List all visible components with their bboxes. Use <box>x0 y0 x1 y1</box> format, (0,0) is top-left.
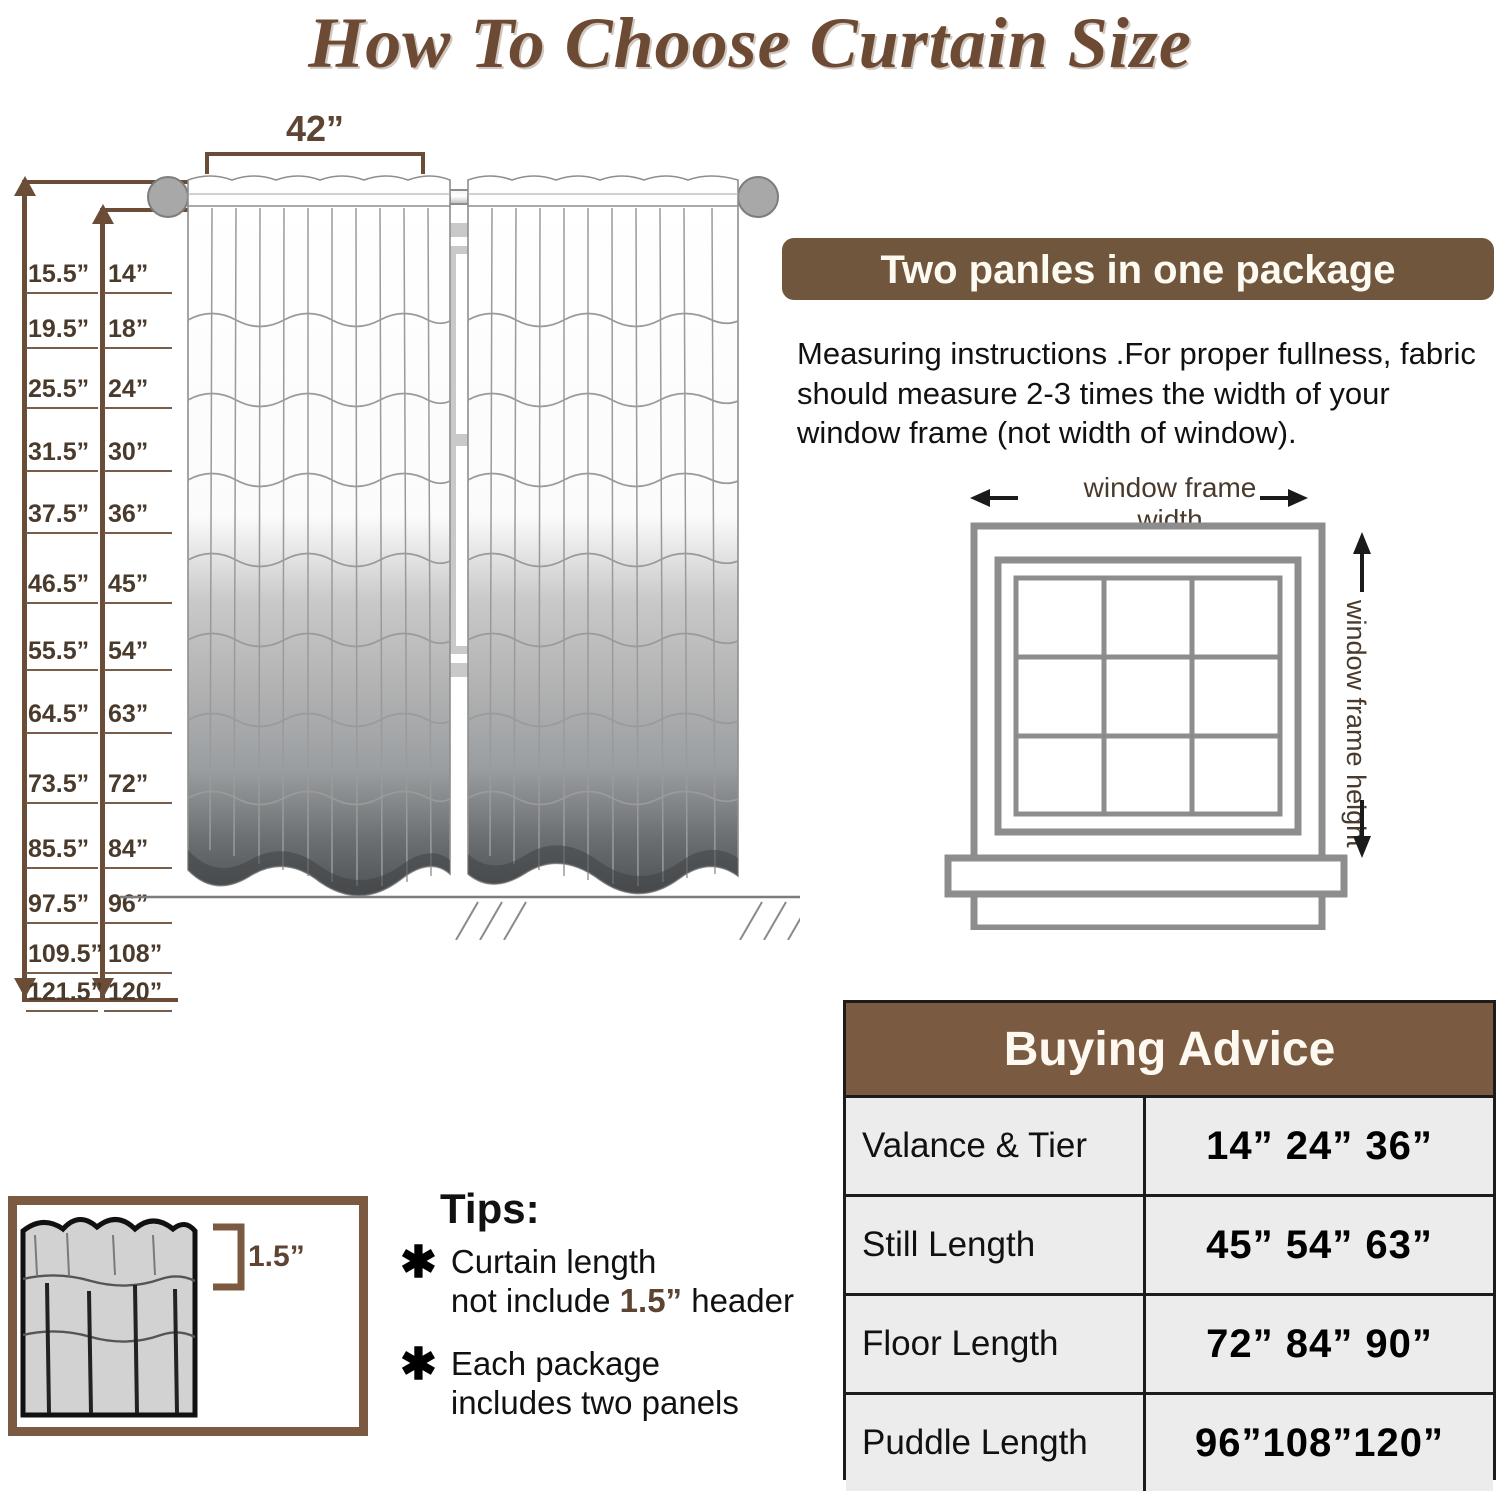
table-cell-sizes: 72” 84” 90” <box>1146 1296 1493 1392</box>
scale-tick <box>26 972 98 974</box>
two-panels-banner-label: Two panles in one package <box>782 248 1494 293</box>
scale-tick <box>26 470 98 472</box>
scale-axis-total <box>22 180 27 998</box>
scale-tick <box>26 1010 98 1012</box>
scale-arrow-up-panel <box>92 204 114 224</box>
table-cell-label: Floor Length <box>846 1296 1146 1392</box>
scale-tick <box>26 669 98 671</box>
scale-total-label: 15.5” <box>28 260 89 289</box>
table-cell-sizes: 45” 54” 63” <box>1146 1197 1493 1293</box>
tip-line-2-pre: includes two panels <box>451 1384 739 1421</box>
tip-line-2: includes two panels <box>451 1384 739 1423</box>
tip-line-1: Curtain length <box>451 1243 794 1282</box>
scale-total-label: 73.5” <box>28 770 89 799</box>
tip-text: Curtain lengthnot include 1.5” header <box>451 1243 794 1321</box>
buying-advice-table: Buying Advice Valance & Tier14” 24” 36”S… <box>843 1000 1496 1480</box>
table-row: Puddle Length96”108”120” <box>846 1392 1493 1491</box>
scale-tick <box>26 407 98 409</box>
table-cell-label: Valance & Tier <box>846 1098 1146 1194</box>
scale-tick <box>26 532 98 534</box>
tip-line-2-highlight: 1.5” <box>620 1282 682 1319</box>
scale-panel-label: 120” <box>108 978 162 1007</box>
scale-total-label: 64.5” <box>28 700 89 729</box>
tip-line-1: Each package <box>451 1345 739 1384</box>
header-detail-panel <box>8 1196 368 1436</box>
tips-title: Tips: <box>440 1185 540 1233</box>
table-cell-sizes: 14” 24” 36” <box>1146 1098 1493 1194</box>
tip-line-2-post: header <box>682 1282 794 1319</box>
buying-advice-heading: Buying Advice <box>846 1003 1493 1095</box>
scale-total-label: 121.5” <box>28 978 103 1007</box>
table-row: Still Length45” 54” 63” <box>846 1194 1493 1293</box>
scale-tick <box>26 732 98 734</box>
scale-total-label: 109.5” <box>28 940 103 969</box>
scale-total-label: 55.5” <box>28 637 89 666</box>
header-size-label: 1.5” <box>248 1240 305 1274</box>
scale-total-label: 85.5” <box>28 835 89 864</box>
scale-total-label: 19.5” <box>28 315 89 344</box>
curtain-illustration <box>120 150 800 940</box>
scale-tick <box>26 602 98 604</box>
asterisk-icon: ✱ <box>400 1345 437 1385</box>
scale-tick <box>26 347 98 349</box>
tip-item: ✱Curtain lengthnot include 1.5” header <box>400 1243 794 1321</box>
buying-advice-rows: Valance & Tier14” 24” 36”Still Length45”… <box>846 1095 1493 1491</box>
scale-tick <box>26 292 98 294</box>
tip-text: Each packageincludes two panels <box>451 1345 739 1423</box>
tip-line-2: not include 1.5” header <box>451 1282 794 1321</box>
scale-tick <box>26 867 98 869</box>
scale-total-label: 25.5” <box>28 375 89 404</box>
table-cell-label: Puddle Length <box>846 1395 1146 1491</box>
window-frame-diagram <box>930 470 1490 930</box>
tip-item: ✱Each packageincludes two panels <box>400 1345 739 1423</box>
scale-total-label: 46.5” <box>28 570 89 599</box>
table-row: Floor Length72” 84” 90” <box>846 1293 1493 1392</box>
scale-tick <box>26 922 98 924</box>
measuring-instructions-text: Measuring instructions .For proper fulln… <box>797 334 1497 453</box>
panel-width-label: 42” <box>205 108 425 150</box>
scale-total-label: 37.5” <box>28 500 89 529</box>
asterisk-icon: ✱ <box>400 1243 437 1283</box>
scale-panel-label: 108” <box>108 940 162 969</box>
page-title: How To Choose Curtain Size <box>0 2 1500 85</box>
table-cell-label: Still Length <box>846 1197 1146 1293</box>
tip-line-2-pre: not include <box>451 1282 620 1319</box>
scale-arrow-up-total <box>14 176 36 196</box>
table-cell-sizes: 96”108”120” <box>1146 1395 1493 1491</box>
scale-tick <box>104 1010 172 1012</box>
scale-tick <box>104 972 172 974</box>
buying-advice-heading-label: Buying Advice <box>1004 1022 1336 1077</box>
scale-total-label: 97.5” <box>28 890 89 919</box>
table-row: Valance & Tier14” 24” 36” <box>846 1095 1493 1194</box>
scale-total-label: 31.5” <box>28 438 89 467</box>
scale-tick <box>26 802 98 804</box>
